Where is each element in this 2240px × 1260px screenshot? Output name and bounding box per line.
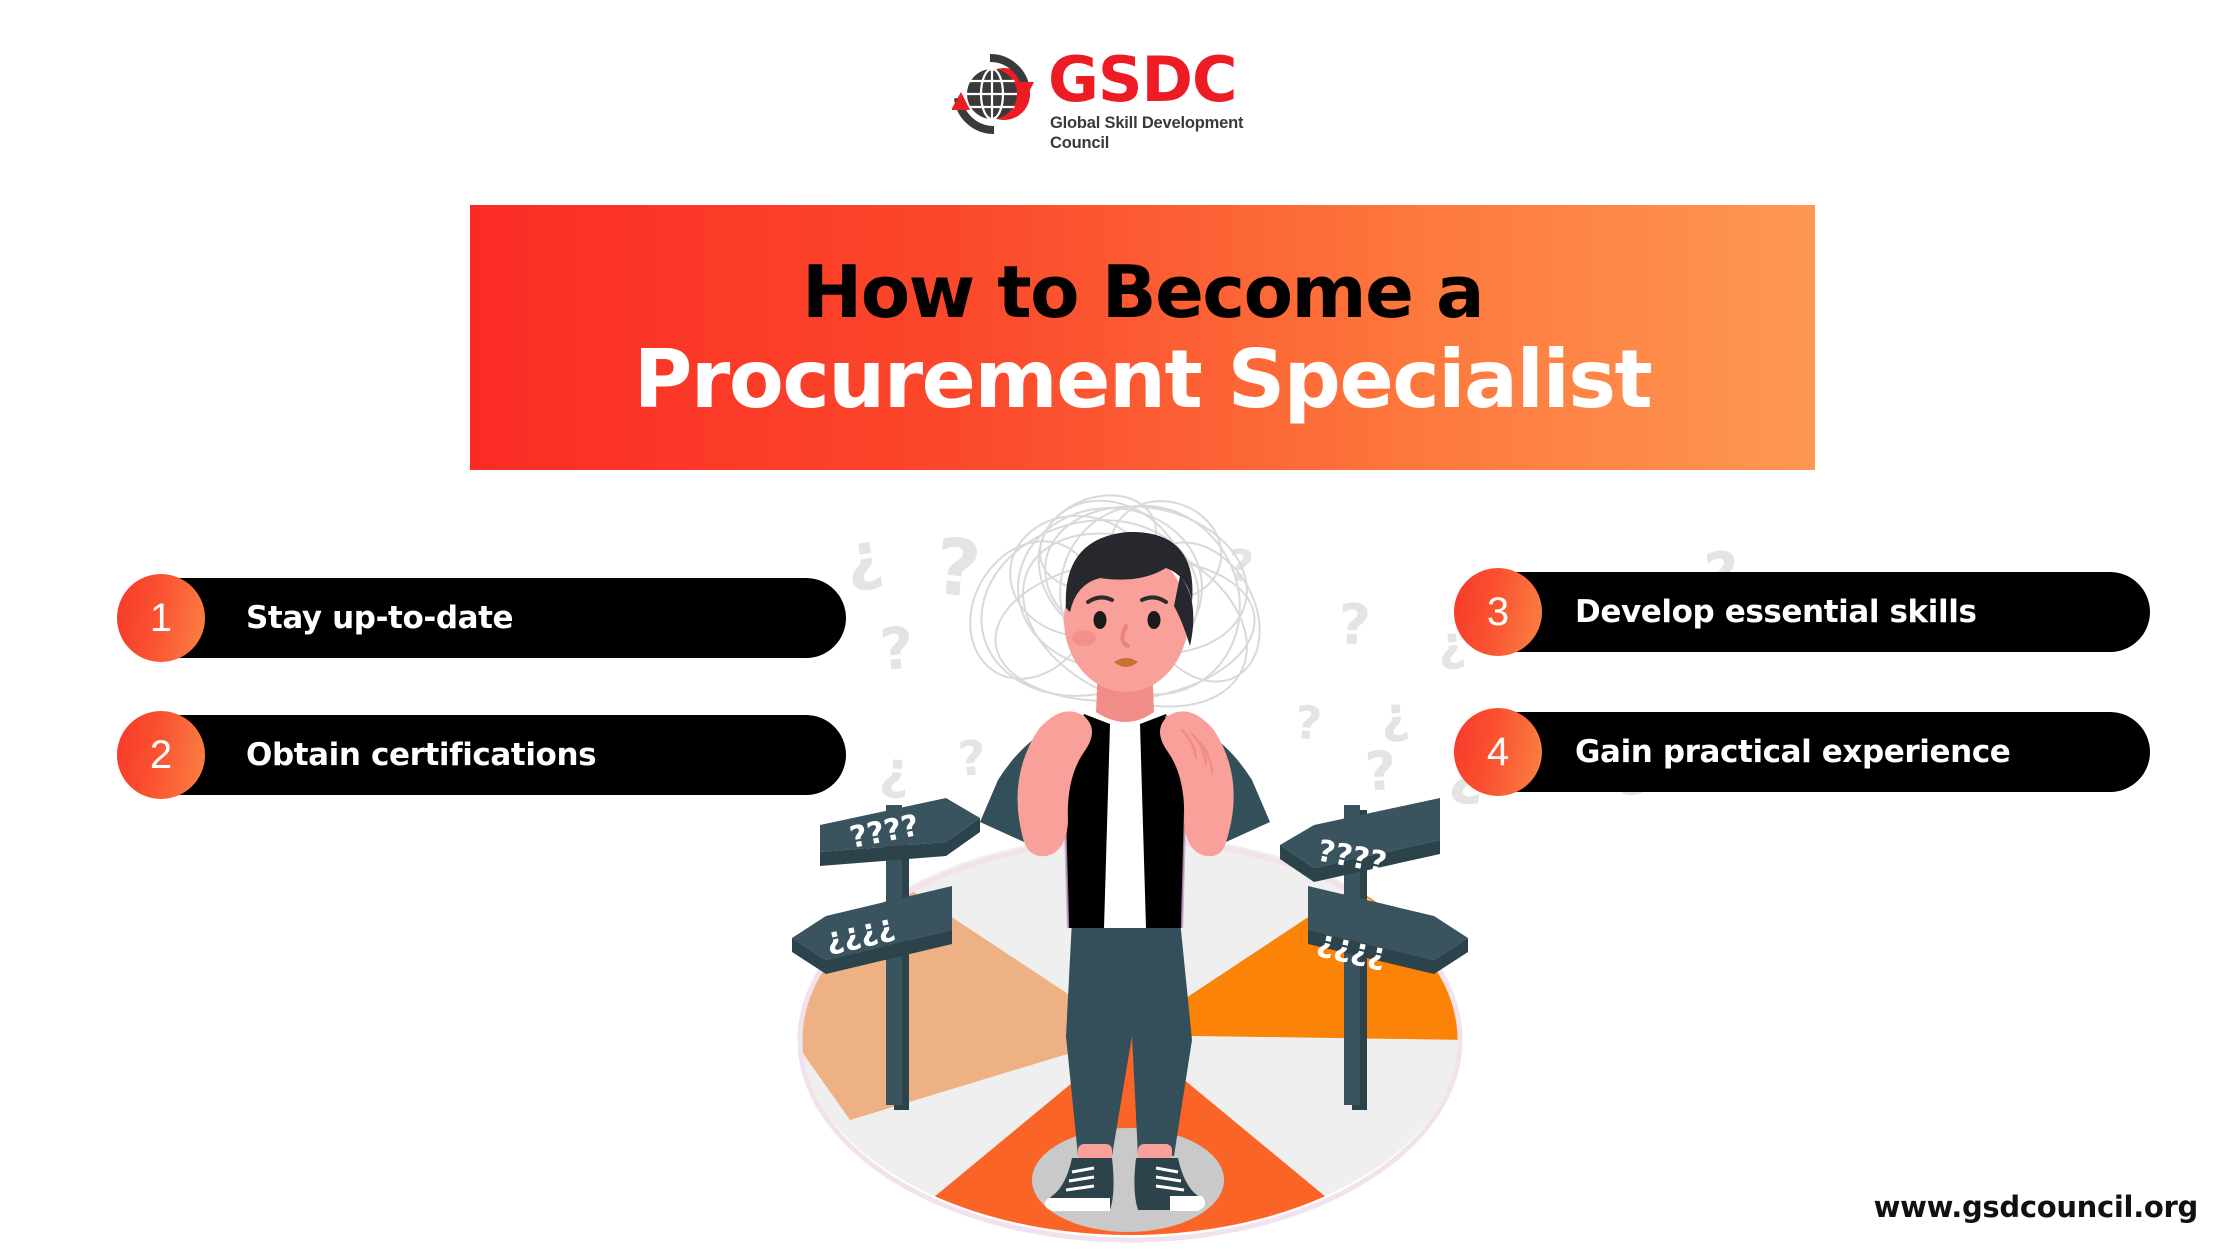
logo-tagline: Global Skill Development Council — [1050, 113, 1292, 153]
step-number-badge-2: 2 — [117, 711, 205, 799]
banner-title-line-1: How to Become a — [802, 250, 1483, 334]
globe-icon — [952, 48, 1044, 140]
step-number-badge-3: 3 — [1454, 568, 1542, 656]
infographic-canvas: GSDC Global Skill Development Council Ho… — [0, 0, 2240, 1260]
website-url[interactable]: www.gsdcouncil.org — [1874, 1190, 2198, 1224]
gsdc-logo: GSDC Global Skill Development Council — [952, 48, 1292, 158]
step-number-badge-4: 4 — [1454, 708, 1542, 796]
title-banner: How to Become a Procurement Specialist — [470, 205, 1815, 470]
step-pill-4[interactable]: 4 Gain practical experience — [1465, 712, 2150, 792]
step-number-badge-1: 1 — [117, 574, 205, 662]
step-label-4: Gain practical experience — [1575, 734, 2010, 770]
step-label-1: Stay up-to-date — [246, 600, 513, 636]
logo-text: GSDC Global Skill Development Council — [1048, 48, 1292, 153]
step-label-3: Develop essential skills — [1575, 594, 1977, 630]
step-label-2: Obtain certifications — [246, 737, 596, 773]
step-pill-3[interactable]: 3 Develop essential skills — [1465, 572, 2150, 652]
logo-wordmark: GSDC — [1048, 48, 1237, 112]
step-pill-2[interactable]: 2 Obtain certifications — [128, 715, 846, 795]
banner-title-line-2: Procurement Specialist — [634, 334, 1651, 426]
step-pill-1[interactable]: 1 Stay up-to-date — [128, 578, 846, 658]
